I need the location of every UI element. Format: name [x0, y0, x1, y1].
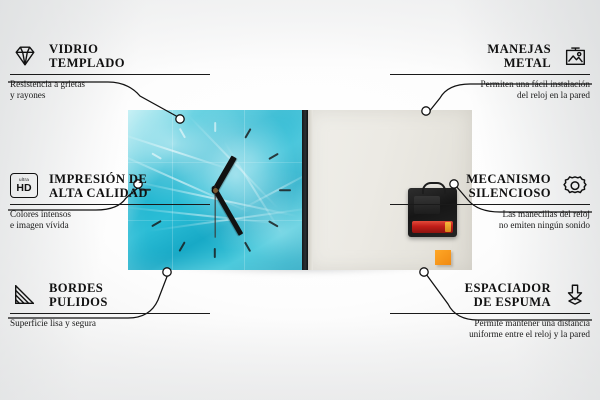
- ultra-hd-badge-main: HD: [16, 183, 31, 194]
- polished-edges-icon: [10, 282, 40, 308]
- callout-espaciador-espuma: ESPACIADOR DE ESPUMA Permite mantener un…: [390, 281, 590, 341]
- ultra-hd-badge: ultra HD: [10, 173, 38, 198]
- callout-title: BORDES PULIDOS: [49, 281, 108, 310]
- callout-mecanismo-silencioso: MECANISMO SILENCIOSO Las manecillas del …: [390, 172, 590, 232]
- callout-divider: [390, 204, 590, 205]
- callout-header: BORDES PULIDOS: [10, 281, 210, 310]
- product-infographic: VIDRIO TEMPLADO Resistencia a grietas y …: [0, 0, 600, 400]
- callout-title: ESPACIADOR DE ESPUMA: [465, 281, 551, 310]
- callout-bordes-pulidos: BORDES PULIDOS Superficie lisa y segura: [10, 281, 210, 329]
- callout-header: ESPACIADOR DE ESPUMA: [390, 281, 590, 310]
- callout-header: MECANISMO SILENCIOSO: [390, 172, 590, 201]
- callout-header: ultra HD IMPRESIÓN DE ALTA CALIDAD: [10, 172, 210, 201]
- callout-title: VIDRIO TEMPLADO: [49, 42, 125, 71]
- callout-title: MECANISMO SILENCIOSO: [466, 172, 551, 201]
- callout-description: Las manecillas del reloj no emiten ningú…: [390, 209, 590, 232]
- callout-divider: [390, 74, 590, 75]
- callout-description: Permiten una fácil instalación del reloj…: [390, 79, 590, 102]
- callout-divider: [10, 204, 210, 205]
- callout-title: IMPRESIÓN DE ALTA CALIDAD: [49, 172, 148, 201]
- callout-header: MANEJAS METAL: [390, 42, 590, 71]
- callout-description: Superficie lisa y segura: [10, 318, 210, 329]
- foam-spacer-arrow-icon: [560, 282, 590, 308]
- foam-spacer: [435, 250, 451, 265]
- callout-manejas-metal: MANEJAS METAL Permiten una fácil instala…: [390, 42, 590, 102]
- callout-description: Permite mantener una distancia uniforme …: [390, 318, 590, 341]
- callout-header: VIDRIO TEMPLADO: [10, 42, 210, 71]
- picture-hanger-icon: [560, 43, 590, 69]
- callout-divider: [10, 313, 210, 314]
- callout-divider: [10, 74, 210, 75]
- callout-divider: [390, 313, 590, 314]
- callout-description: Colores intensos e imagen vívida: [10, 209, 210, 232]
- clock-second-hand: [214, 186, 215, 238]
- callout-title: MANEJAS METAL: [487, 42, 551, 71]
- diamond-icon: [10, 43, 40, 69]
- back-panel-edge: [308, 110, 313, 270]
- ultra-hd-icon: ultra HD: [10, 173, 40, 199]
- clock-hub: [213, 188, 218, 193]
- gear-icon: [560, 173, 590, 199]
- callout-impresion-alta-calidad: ultra HD IMPRESIÓN DE ALTA CALIDAD Color…: [10, 172, 210, 232]
- callout-vidrio-templado: VIDRIO TEMPLADO Resistencia a grietas y …: [10, 42, 210, 102]
- callout-description: Resistencia a grietas y rayones: [10, 79, 210, 102]
